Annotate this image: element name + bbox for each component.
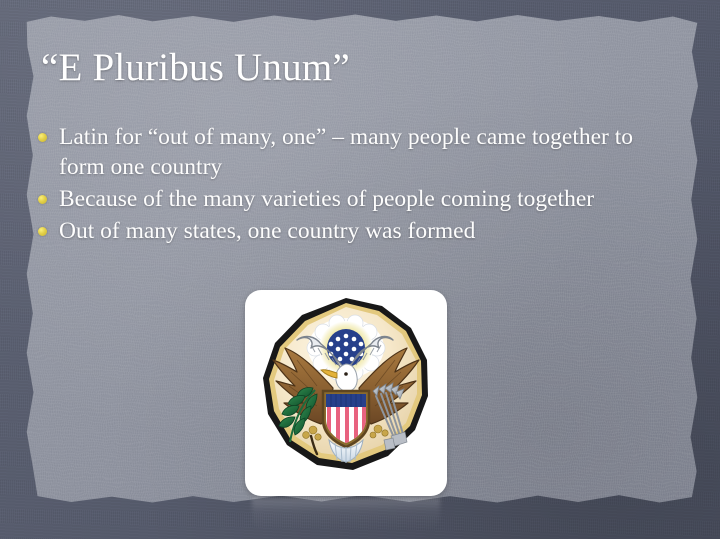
slide-content: “E Pluribus Unum” Latin for “out of many… xyxy=(0,0,720,539)
bullet-text-2: Because of the many varieties of people … xyxy=(59,186,594,212)
bullet-list: Latin for “out of many, one” – many peop… xyxy=(33,122,653,248)
bullet-text-3: Out of many states, one country was form… xyxy=(59,218,475,244)
seal-image-reflection xyxy=(252,497,440,531)
bullet-item-2: Because of the many varieties of people … xyxy=(33,184,653,214)
slide-title: “E Pluribus Unum” xyxy=(41,48,350,87)
bullet-dot-icon xyxy=(38,195,47,204)
presentation-slide: “E Pluribus Unum” Latin for “out of many… xyxy=(0,0,720,539)
bullet-dot-icon xyxy=(38,133,47,142)
bullet-text-1: Latin for “out of many, one” – many peop… xyxy=(59,124,633,180)
bullet-item-1: Latin for “out of many, one” – many peop… xyxy=(33,122,653,182)
bullet-item-3: Out of many states, one country was form… xyxy=(33,216,653,246)
great-seal-illustration xyxy=(245,290,447,496)
bullet-dot-icon xyxy=(38,227,47,236)
great-seal-image xyxy=(245,290,447,496)
